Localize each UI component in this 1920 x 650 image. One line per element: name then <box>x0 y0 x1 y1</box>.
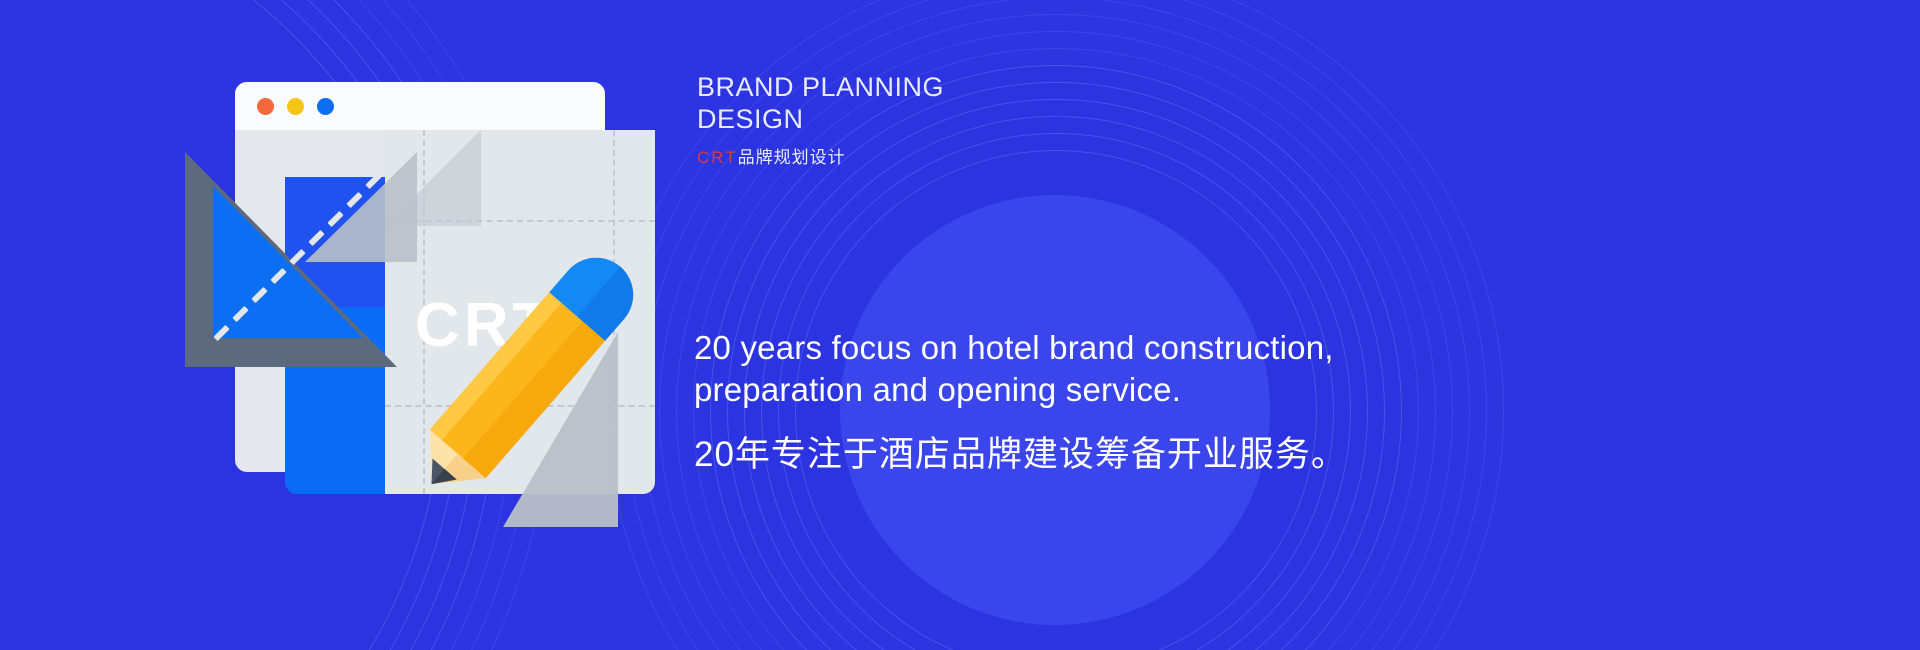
headline-chinese: CRT品牌规划设计 <box>697 143 944 168</box>
headline-block: BRAND PLANNING DESIGN CRT品牌规划设计 <box>697 72 944 168</box>
red-dot-icon <box>257 98 274 115</box>
browser-title-bar <box>235 82 605 130</box>
yellow-dot-icon <box>287 98 304 115</box>
triangle-ruler <box>185 152 397 367</box>
brand-planning-banner: CRT <box>0 0 1920 650</box>
tagline-english: 20 years focus on hotel brand constructi… <box>694 327 1694 410</box>
headline-chinese-rest: 品牌规划设计 <box>738 148 846 167</box>
tagline-block: 20 years focus on hotel brand constructi… <box>694 327 1694 477</box>
tagline-chinese: 20年专注于酒店品牌建设筹备开业服务。 <box>694 426 1694 477</box>
brand-design-illustration: CRT <box>185 60 705 480</box>
headline-brand-accent: CRT <box>697 148 738 167</box>
ruler-tick-marks <box>185 152 397 367</box>
headline-english: BRAND PLANNING DESIGN <box>697 72 944 135</box>
blue-dot-icon <box>317 98 334 115</box>
